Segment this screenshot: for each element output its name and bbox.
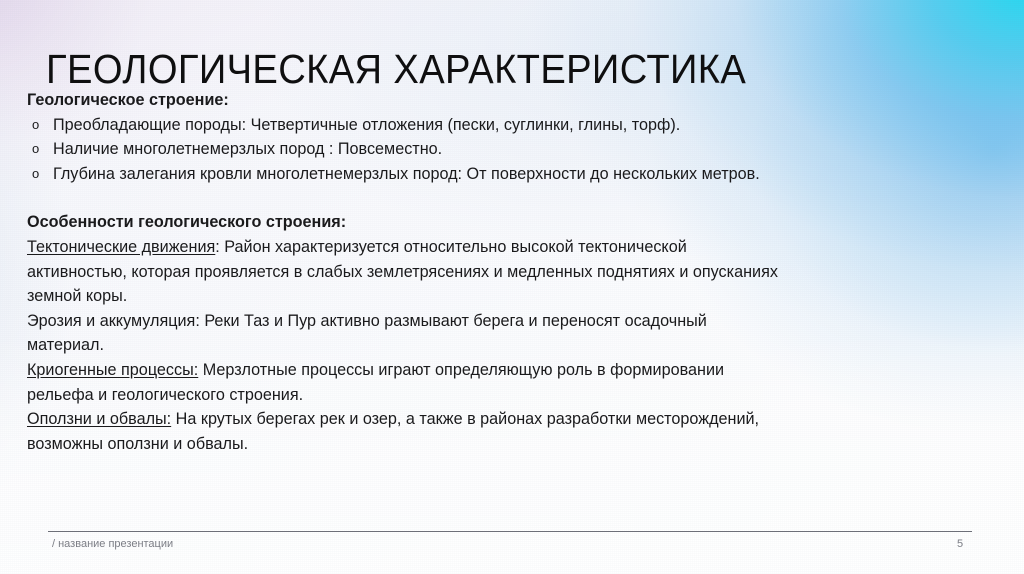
list-item: o Преобладающие породы: Четвертичные отл…	[27, 113, 787, 138]
list-item-text: Наличие многолетнемерзлых пород : Повсем…	[53, 140, 442, 158]
footer-presentation-name: / название презентации	[52, 537, 173, 552]
list-item: o Глубина залегания кровли многолетнемер…	[27, 162, 787, 187]
section1-heading: Геологическое строение:	[27, 88, 787, 113]
body-content: Геологическое строение: o Преобладающие …	[27, 88, 787, 456]
section-structural-features: Особенности геологического строения: Тек…	[27, 210, 787, 456]
paragraph-separator: :	[215, 238, 224, 256]
section1-bullet-list: o Преобладающие породы: Четвертичные отл…	[27, 113, 787, 187]
paragraph-tectonic-movements: Тектонические движения: Район характериз…	[27, 235, 787, 309]
bullet-marker-icon: o	[32, 113, 39, 138]
section-spacer	[27, 186, 787, 210]
list-item-text: Глубина залегания кровли многолетнемерзл…	[53, 165, 760, 183]
slide-canvas: ГЕОЛОГИЧЕСКАЯ ХАРАКТЕРИСТИКА Геологическ…	[0, 0, 1024, 574]
footer-divider	[48, 531, 972, 532]
paragraph-erosion-accumulation: Эрозия и аккумуляция: Реки Таз и Пур акт…	[27, 309, 787, 358]
paragraph-lead-label: Эрозия и аккумуляция	[27, 312, 195, 330]
paragraph-lead-label: Оползни и обвалы:	[27, 410, 171, 428]
page-title: ГЕОЛОГИЧЕСКАЯ ХАРАКТЕРИСТИКА	[46, 45, 746, 93]
paragraph-cryogenic-processes: Криогенные процессы: Мерзлотные процессы…	[27, 358, 787, 407]
paragraph-lead-label: Тектонические движения	[27, 238, 215, 256]
paragraph-landslides-collapses: Оползни и обвалы: На крутых берегах рек …	[27, 407, 787, 456]
list-item-text: Преобладающие породы: Четвертичные отлож…	[53, 116, 680, 134]
paragraph-lead-label: Криогенные процессы:	[27, 361, 198, 379]
section-geological-structure: Геологическое строение: o Преобладающие …	[27, 88, 787, 186]
list-item: o Наличие многолетнемерзлых пород : Повс…	[27, 137, 787, 162]
bullet-marker-icon: o	[32, 137, 39, 162]
slide-content: ГЕОЛОГИЧЕСКАЯ ХАРАКТЕРИСТИКА Геологическ…	[0, 0, 1024, 574]
bullet-marker-icon: o	[32, 162, 39, 187]
section2-heading: Особенности геологического строения:	[27, 210, 787, 235]
paragraph-separator: :	[195, 312, 204, 330]
page-number: 5	[930, 537, 990, 552]
